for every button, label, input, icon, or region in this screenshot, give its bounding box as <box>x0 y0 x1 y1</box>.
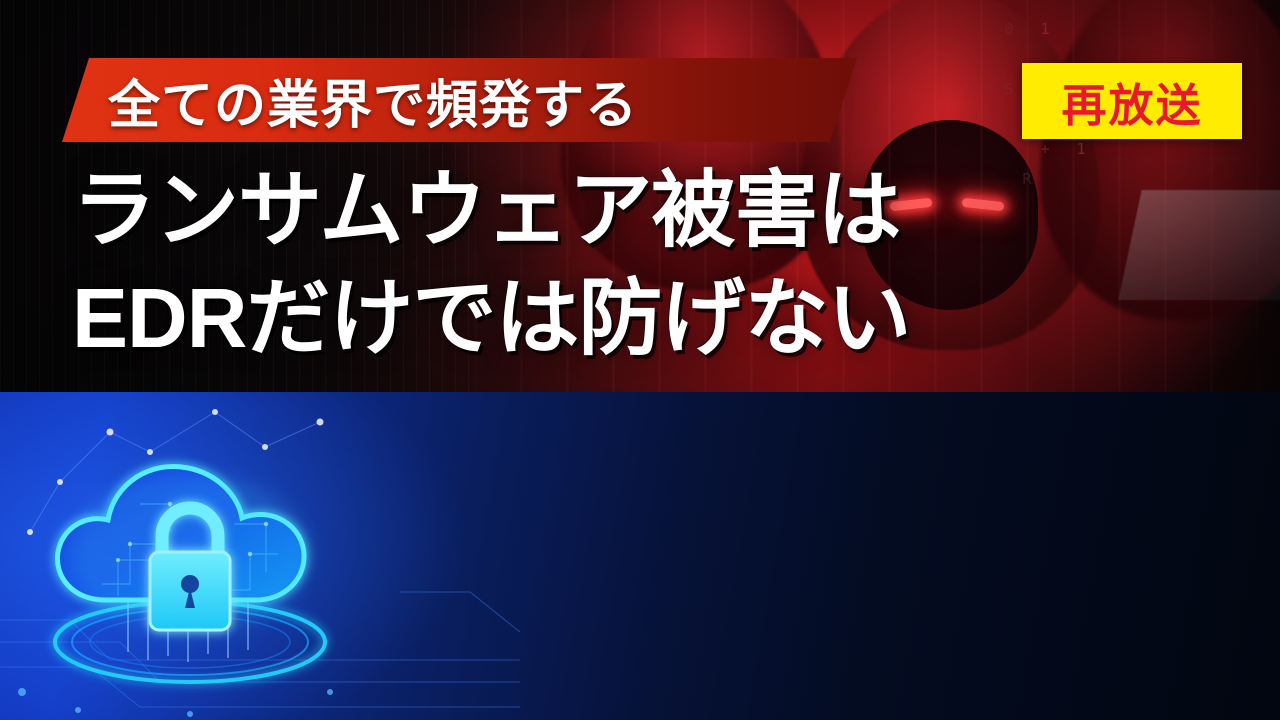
webinar-banner: I C L O ] 0 1 O C S I ] V C ) C i S [ 1 … <box>0 0 1280 720</box>
page-title: ランサムウェア被害は EDRだけでは防げない <box>72 156 1132 372</box>
headline-line-1: ランサムウェア被害は <box>72 163 900 257</box>
rerun-badge-label: 再放送 <box>1061 69 1202 134</box>
headline-line-2: EDRだけでは防げない <box>72 264 1132 372</box>
rerun-badge: 再放送 <box>1022 63 1242 139</box>
cloud-lock-icon <box>10 404 370 704</box>
bottom-info-section: 迅速復旧に必要なポイントは ハードウェアとの連携 WEBINAR 2026 2/… <box>0 392 1280 720</box>
ribbon-label: 全ての業界で頻発する <box>108 60 868 140</box>
top-hero-section: I C L O ] 0 1 O C S I ] V C ) C i S [ 1 … <box>0 0 1280 392</box>
